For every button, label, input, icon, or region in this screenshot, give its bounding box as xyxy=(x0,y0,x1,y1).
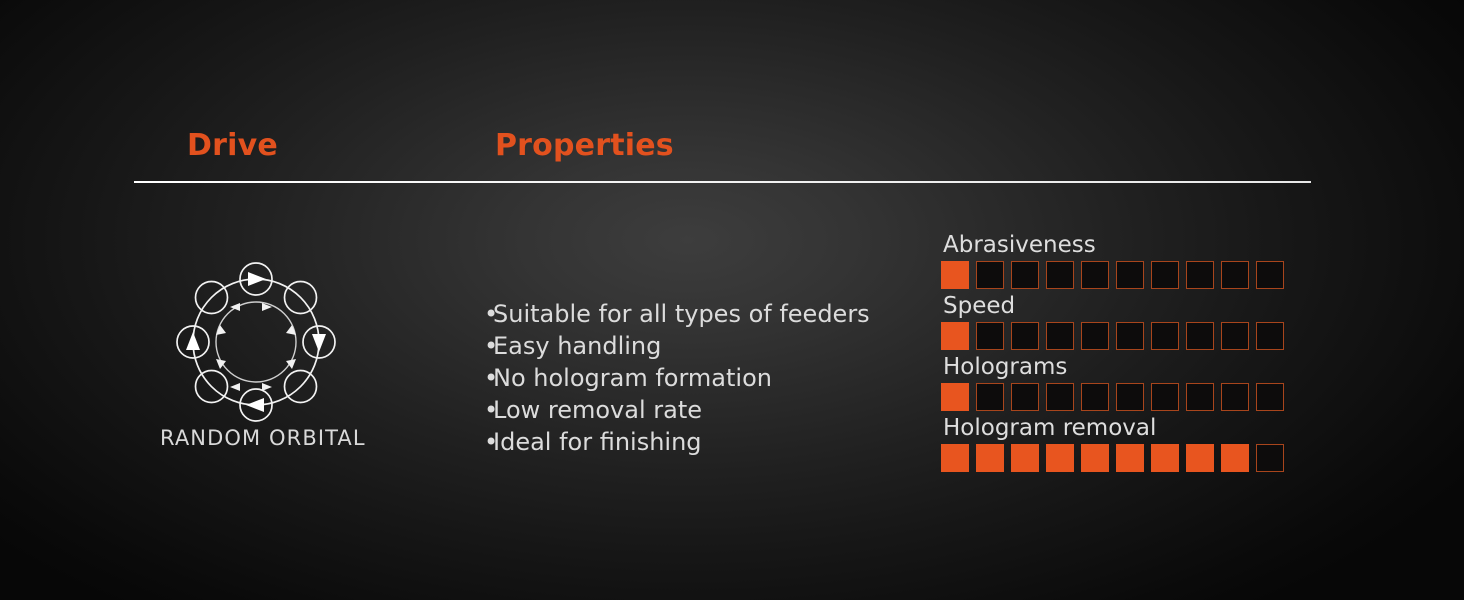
list-item-label: Easy handling xyxy=(493,332,661,360)
rating-box-empty xyxy=(1046,261,1074,289)
rating-boxes xyxy=(941,444,1311,472)
rating-label: Holograms xyxy=(941,352,1311,382)
rating-box-empty xyxy=(1256,383,1284,411)
rating-group-speed: Speed xyxy=(941,291,1311,350)
rating-box-empty xyxy=(1151,322,1179,350)
rating-box-empty xyxy=(976,261,1004,289)
rating-box-filled xyxy=(1186,444,1214,472)
rating-box-empty xyxy=(1256,444,1284,472)
list-item: •Ideal for finishing xyxy=(484,426,904,458)
rating-box-empty xyxy=(976,383,1004,411)
column-header-drive: Drive xyxy=(187,124,278,168)
header-divider-rule xyxy=(134,181,1311,183)
rating-group-hologram-removal: Hologram removal xyxy=(941,413,1311,472)
column-header-row: Drive Properties xyxy=(134,124,1312,172)
rating-box-empty xyxy=(1046,322,1074,350)
rating-group-holograms: Holograms xyxy=(941,352,1311,411)
slide-canvas: Drive Properties xyxy=(0,0,1464,600)
rating-box-filled xyxy=(941,383,969,411)
rating-box-empty xyxy=(976,322,1004,350)
rating-box-empty xyxy=(1081,322,1109,350)
rating-box-empty xyxy=(1116,261,1144,289)
bullet-dot-icon: • xyxy=(484,330,493,362)
list-item-label: No hologram formation xyxy=(493,364,772,392)
column-header-properties: Properties xyxy=(495,124,674,168)
rating-group-abrasiveness: Abrasiveness xyxy=(941,230,1311,289)
rating-label: Speed xyxy=(941,291,1311,321)
rating-box-filled xyxy=(1116,444,1144,472)
rating-label: Hologram removal xyxy=(941,413,1311,443)
rating-box-empty xyxy=(1221,261,1249,289)
rating-box-empty xyxy=(1151,383,1179,411)
bullet-dot-icon: • xyxy=(484,426,493,458)
list-item: •Low removal rate xyxy=(484,394,904,426)
rating-box-empty xyxy=(1011,322,1039,350)
rating-box-filled xyxy=(1081,444,1109,472)
rating-box-filled xyxy=(1151,444,1179,472)
rating-box-filled xyxy=(1221,444,1249,472)
rating-box-filled xyxy=(976,444,1004,472)
rating-boxes xyxy=(941,261,1311,289)
drive-caption: RANDOM ORBITAL xyxy=(160,426,352,450)
rating-box-filled xyxy=(941,444,969,472)
rating-box-empty xyxy=(1256,322,1284,350)
rating-box-empty xyxy=(1116,322,1144,350)
rating-box-empty xyxy=(1011,383,1039,411)
rating-boxes xyxy=(941,383,1311,411)
random-orbital-motion-icon xyxy=(160,262,352,422)
rating-box-filled xyxy=(1011,444,1039,472)
drive-column: RANDOM ORBITAL xyxy=(160,262,352,450)
list-item: •Suitable for all types of feeders xyxy=(484,298,904,330)
bullet-dot-icon: • xyxy=(484,394,493,426)
rating-box-empty xyxy=(1186,383,1214,411)
rating-box-empty xyxy=(1221,322,1249,350)
rating-box-empty xyxy=(1151,261,1179,289)
rating-meter-panel: Abrasiveness Speed Holograms Hologram re… xyxy=(941,230,1311,474)
rating-box-empty xyxy=(1081,261,1109,289)
list-item: •No hologram formation xyxy=(484,362,904,394)
bullet-dot-icon: • xyxy=(484,362,493,394)
rating-box-filled xyxy=(941,261,969,289)
properties-bullet-list: •Suitable for all types of feeders •Easy… xyxy=(484,298,904,458)
rating-box-empty xyxy=(1186,261,1214,289)
list-item-label: Ideal for finishing xyxy=(493,428,702,456)
rating-box-filled xyxy=(1046,444,1074,472)
list-item-label: Suitable for all types of feeders xyxy=(493,300,870,328)
rating-box-filled xyxy=(941,322,969,350)
list-item-label: Low removal rate xyxy=(493,396,702,424)
list-item: •Easy handling xyxy=(484,330,904,362)
rating-box-empty xyxy=(1046,383,1074,411)
rating-label: Abrasiveness xyxy=(941,230,1311,260)
rating-box-empty xyxy=(1011,261,1039,289)
rating-boxes xyxy=(941,322,1311,350)
rating-box-empty xyxy=(1186,322,1214,350)
rating-box-empty xyxy=(1116,383,1144,411)
bullet-dot-icon: • xyxy=(484,298,493,330)
rating-box-empty xyxy=(1081,383,1109,411)
rating-box-empty xyxy=(1221,383,1249,411)
rating-box-empty xyxy=(1256,261,1284,289)
